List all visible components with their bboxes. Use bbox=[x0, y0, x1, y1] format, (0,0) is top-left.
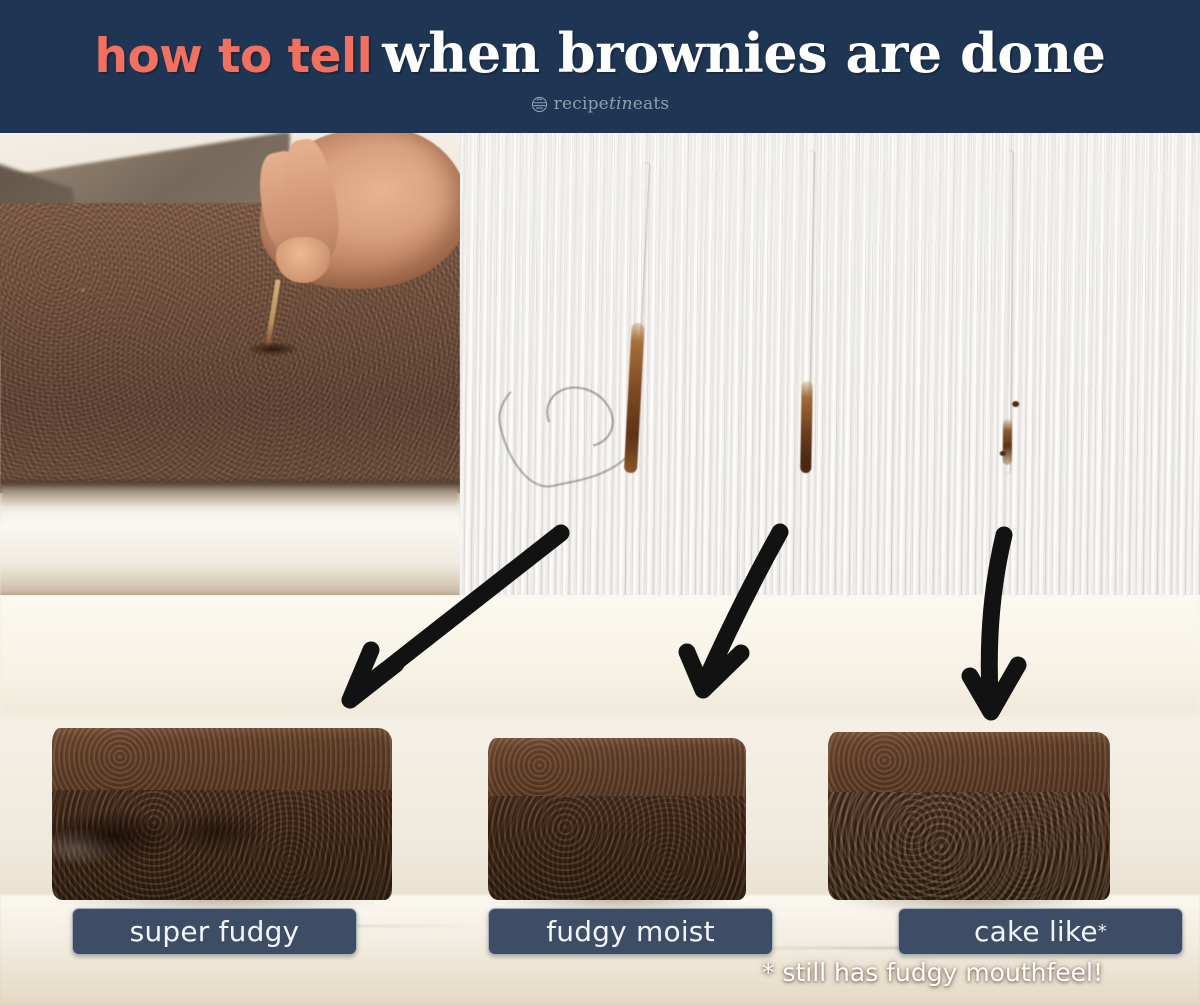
brownie-square-cake-like bbox=[828, 732, 1110, 900]
brownie-cut-face bbox=[52, 790, 392, 900]
page-title: how to tellwhen brownies are done bbox=[95, 26, 1106, 80]
label-cake-like: cake like* bbox=[898, 908, 1183, 955]
marble-backdrop bbox=[0, 595, 1200, 715]
infographic-root: how to tellwhen brownies are done recipe… bbox=[0, 0, 1200, 1005]
title-main-text: when brownies are done bbox=[382, 21, 1105, 85]
label-super-fudgy: super fudgy bbox=[72, 908, 357, 955]
title-accent-text: how to tell bbox=[95, 29, 373, 84]
brownie-cut-face bbox=[488, 796, 746, 900]
label-text: super fudgy bbox=[130, 915, 300, 948]
brand-name: recipetineats bbox=[554, 94, 670, 114]
recipetineats-logo-icon bbox=[531, 96, 548, 113]
header-banner: how to tellwhen brownies are done recipe… bbox=[0, 0, 1200, 133]
brownie-square-super-fudgy bbox=[52, 728, 392, 900]
toothpicks-photo bbox=[460, 133, 1200, 595]
brownie-cut-face bbox=[828, 792, 1110, 900]
toothpick-insertion-point bbox=[250, 343, 296, 355]
label-fudgy-moist: fudgy moist bbox=[488, 908, 773, 955]
toothpick-batter-coating bbox=[1003, 419, 1012, 465]
brownie-square-fudgy-moist bbox=[488, 738, 746, 900]
crumb bbox=[1000, 451, 1006, 456]
brand-logo[interactable]: recipetineats bbox=[531, 94, 670, 114]
countertop bbox=[0, 523, 460, 597]
label-text: fudgy moist bbox=[546, 915, 715, 948]
brownie-pan-photo bbox=[0, 133, 460, 597]
crumb bbox=[1012, 401, 1019, 407]
footnote-text: * still has fudgy mouthfeel! bbox=[762, 958, 1103, 987]
label-text: cake like bbox=[974, 915, 1098, 948]
toothpick-batter-coating bbox=[800, 381, 813, 473]
